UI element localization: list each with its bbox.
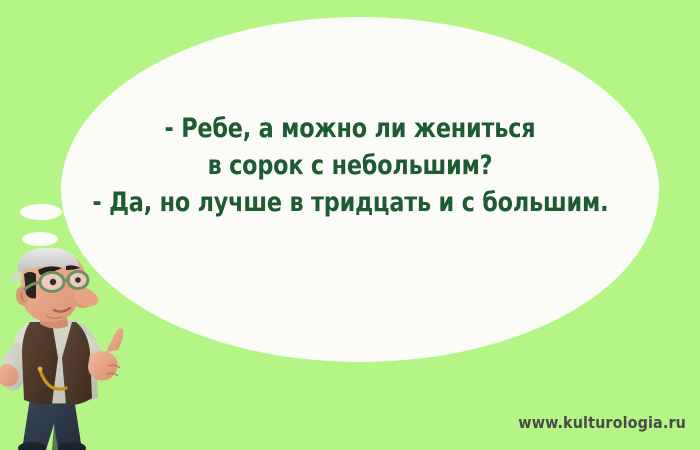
joke-line-1: - Ребе, а можно ли жениться <box>92 110 607 147</box>
character-legs <box>18 398 86 450</box>
cartoon-character-old-man <box>0 248 128 450</box>
joke-card: - Ребе, а можно ли жениться в сорок с не… <box>0 0 700 450</box>
thought-bubble-medium <box>22 232 58 246</box>
joke-line-3: - Да, но лучше в тридцать и с большим. <box>92 184 607 221</box>
character-head <box>10 248 98 329</box>
watermark: www.kulturologia.ru <box>518 413 686 432</box>
joke-line-2: в сорок с небольшим? <box>92 147 607 184</box>
joke-text-block: - Ребе, а можно ли жениться в сорок с не… <box>70 110 630 221</box>
thought-bubble-large <box>20 204 62 220</box>
